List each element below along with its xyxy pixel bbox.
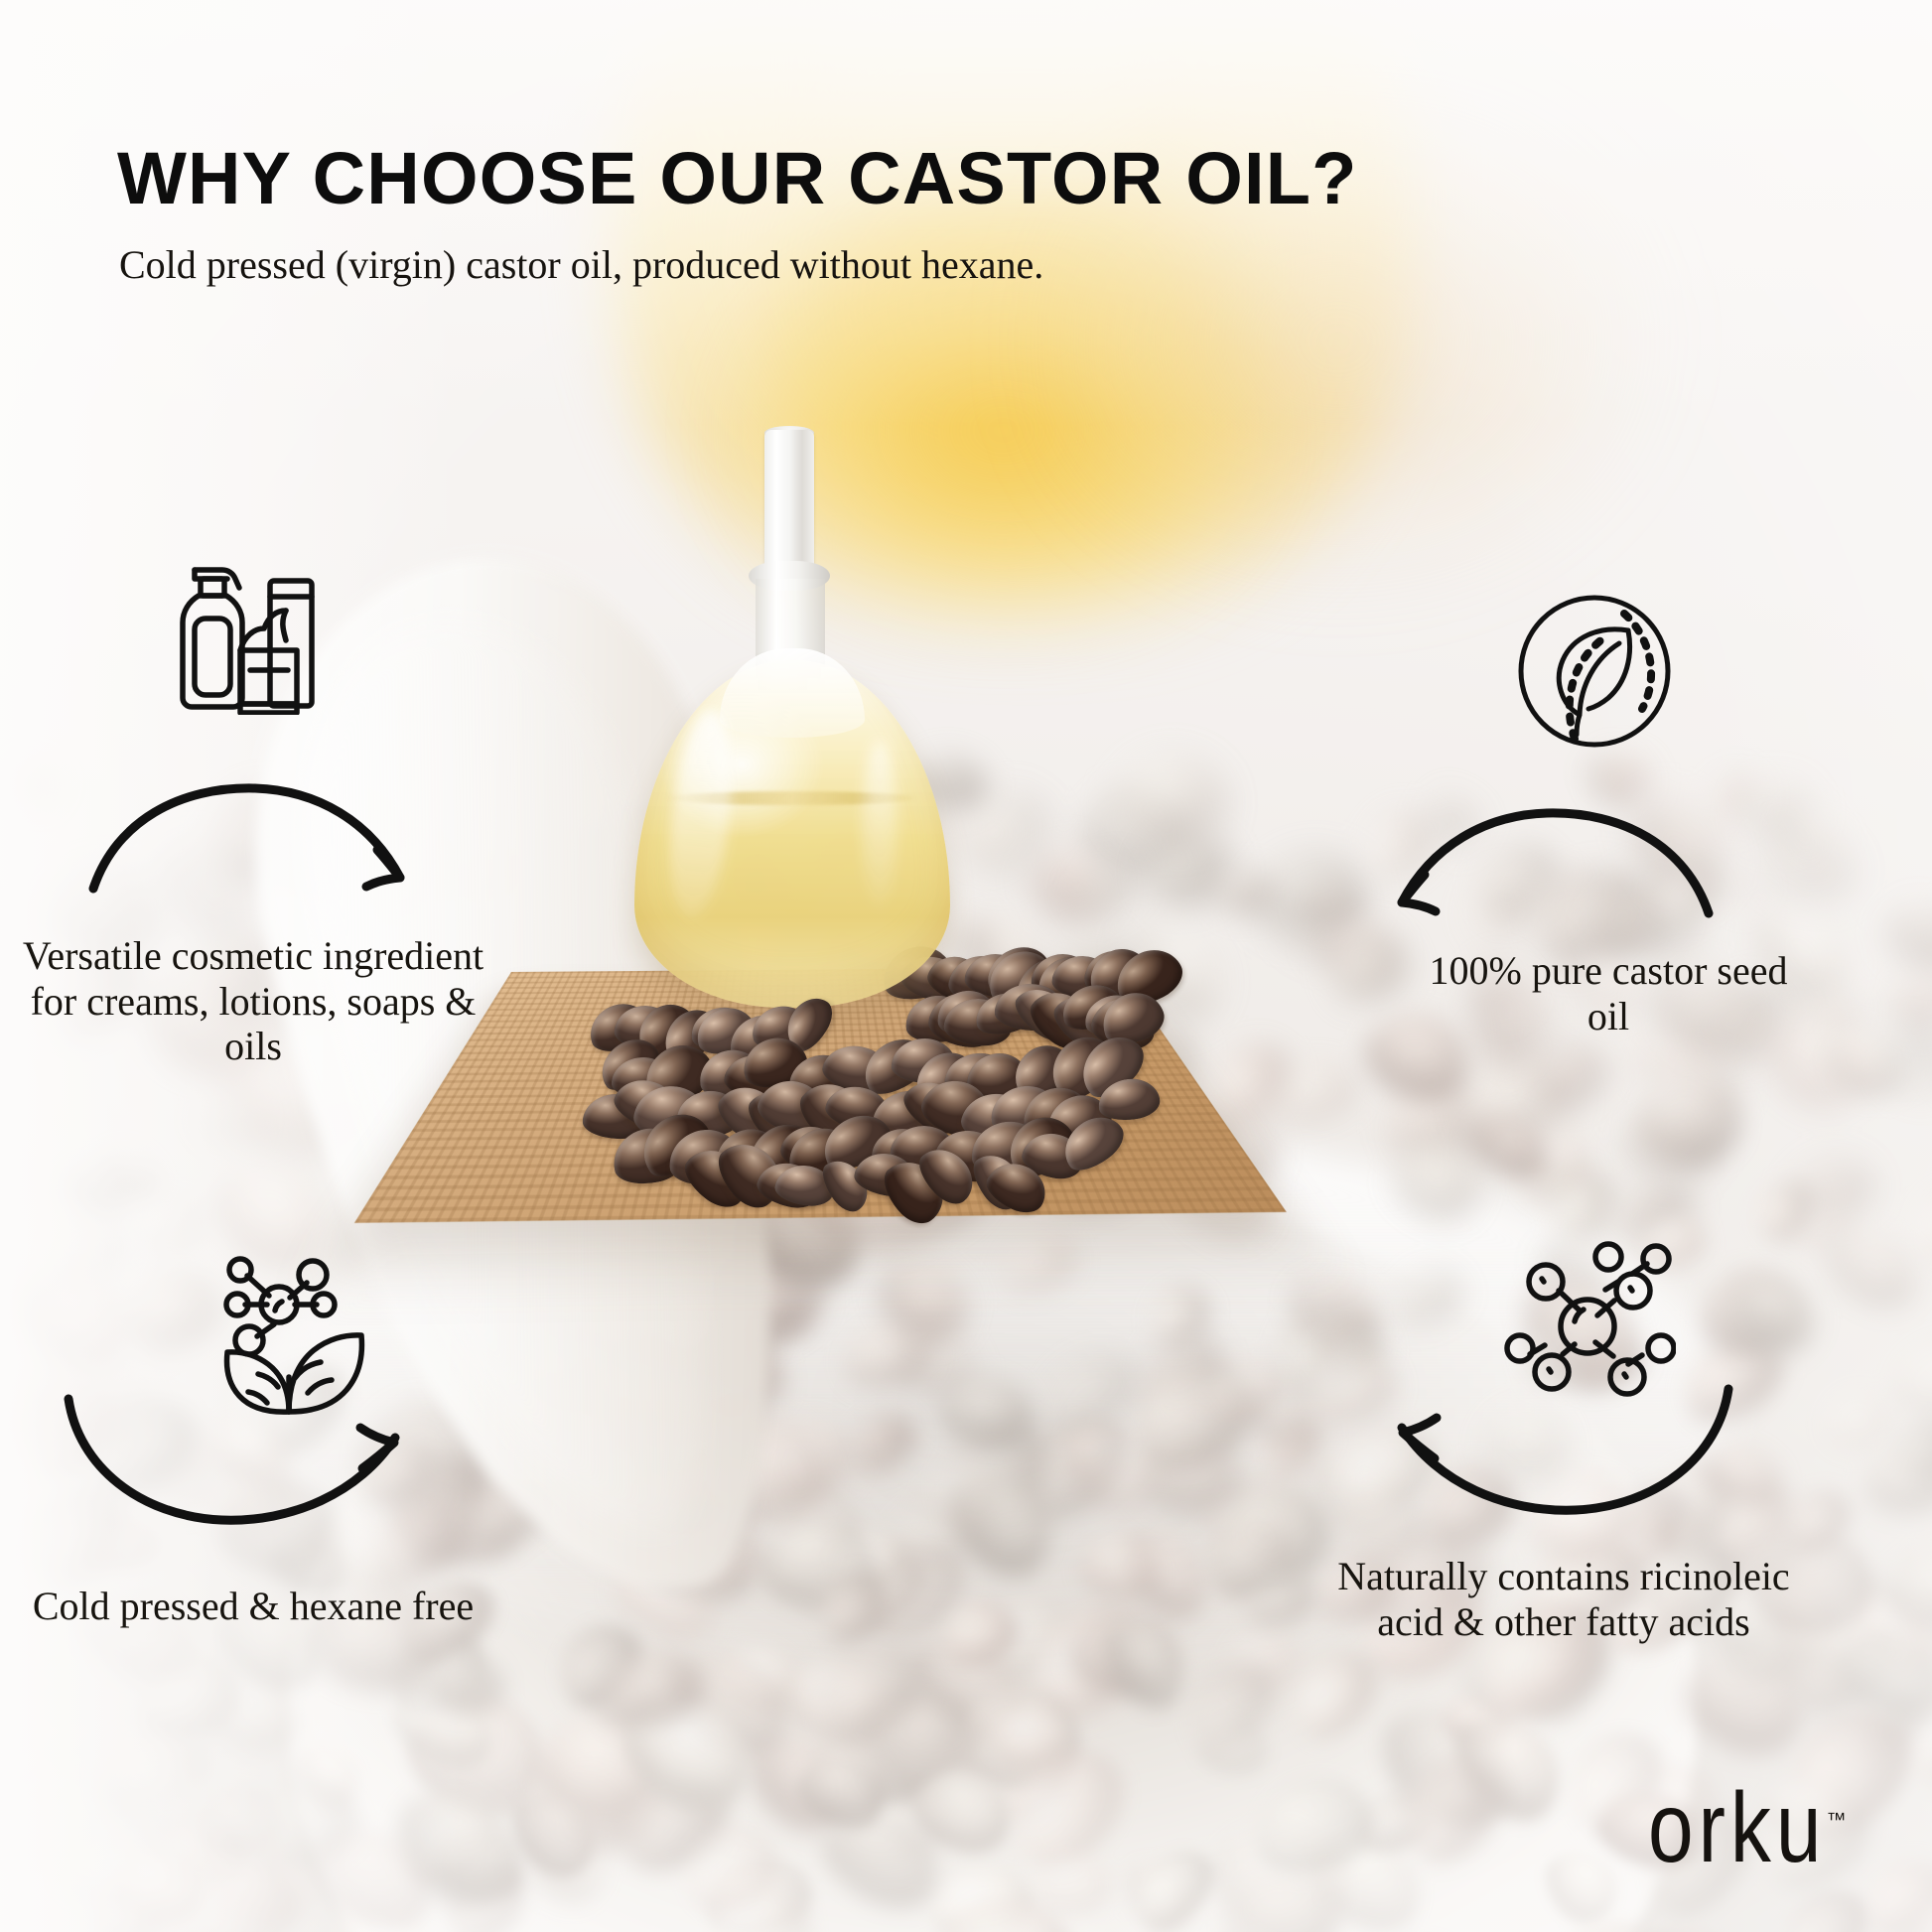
page-title: WHY CHOOSE OUR CASTOR OIL? bbox=[117, 142, 1606, 215]
curved-arrow-left bbox=[1380, 799, 1718, 963]
feature-label-ricinoleic-fatty-acids: Naturally contains ricinoleic acid & oth… bbox=[1330, 1554, 1797, 1644]
curved-arrow-up-right bbox=[60, 1385, 417, 1559]
page-subtitle: Cold pressed (virgin) castor oil, produc… bbox=[119, 241, 1608, 289]
bottle-cap bbox=[764, 430, 814, 579]
brand-logo: orku™ bbox=[1648, 1779, 1847, 1878]
curved-arrow-right bbox=[84, 774, 422, 938]
oil-bottle bbox=[628, 412, 956, 1008]
feature-label-pure-castor-seed-oil: 100% pure castor seed oil bbox=[1410, 948, 1807, 1038]
leaf-in-circle-eco-icon bbox=[1509, 586, 1680, 757]
bottle-shoulder bbox=[720, 648, 865, 738]
castor-seeds-front bbox=[561, 948, 1117, 1176]
trademark-symbol: ™ bbox=[1827, 1810, 1847, 1830]
feature-label-cold-pressed-hexane-free: Cold pressed & hexane free bbox=[20, 1584, 486, 1629]
cosmetics-bottle-jar-tube-icon bbox=[151, 541, 330, 715]
infographic-canvas: WHY CHOOSE OUR CASTOR OIL? Cold pressed … bbox=[0, 0, 1932, 1932]
brand-logo-text: orku bbox=[1648, 1773, 1827, 1883]
bottle-highlight-right bbox=[863, 740, 897, 908]
product-photo bbox=[452, 412, 1206, 1256]
curved-arrow-up-left bbox=[1380, 1375, 1737, 1549]
feature-label-versatile-cosmetic-ingredient: Versatile cosmetic ingredient for creams… bbox=[20, 933, 486, 1069]
